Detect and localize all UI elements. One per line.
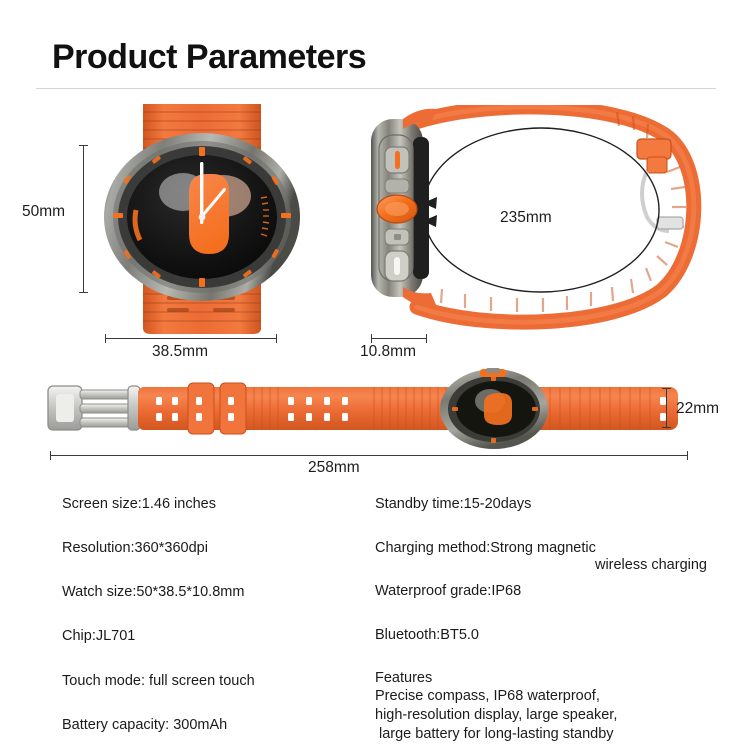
watch-flat-view: [44, 368, 694, 450]
front-height-label: 50mm: [22, 203, 65, 221]
spec-resolution: Resolution:360*360dpi: [62, 539, 382, 557]
product-parameters-page: Product Parameters: [0, 0, 750, 750]
band-width-label: 22mm: [676, 400, 719, 418]
flat-length-dimension-line: [50, 455, 688, 456]
front-height-dimension-line: [83, 145, 84, 293]
thickness-dimension-line: [371, 338, 427, 339]
spec-chip: Chip:JL701: [62, 627, 382, 645]
flat-watch-case: [440, 368, 548, 449]
spec-charging-method-cont: wireless charging: [375, 557, 735, 573]
spec-column-right: Standby time:15-20days Charging method:S…: [375, 495, 735, 744]
flat-length-label: 258mm: [308, 459, 360, 477]
spec-screen-size: Screen size:1.46 inches: [62, 495, 382, 513]
watch-front-view: [95, 100, 310, 335]
spec-watch-size: Watch size:50*38.5*10.8mm: [62, 583, 382, 601]
front-width-dimension-line: [105, 338, 277, 339]
spec-bluetooth: Bluetooth:BT5.0: [375, 626, 735, 644]
spec-touch-mode: Touch mode: full screen touch: [62, 672, 382, 690]
features-title: Features: [375, 669, 735, 688]
front-width-label: 38.5mm: [152, 343, 208, 361]
thickness-label: 10.8mm: [360, 343, 416, 361]
specifications-block: Screen size:1.46 inches Resolution:360*3…: [0, 495, 750, 700]
spec-battery-capacity: Battery capacity: 300mAh: [62, 716, 382, 734]
spec-waterproof-grade: Waterproof grade:IP68: [375, 582, 735, 600]
features-line-2: high-resolution display, large speaker,: [375, 706, 735, 725]
title-divider: [36, 88, 716, 89]
case-profile: [371, 119, 429, 297]
spec-column-left: Screen size:1.46 inches Resolution:360*3…: [62, 495, 382, 734]
page-title: Product Parameters: [52, 38, 366, 77]
spec-standby-time: Standby time:15-20days: [375, 495, 735, 513]
features-line-1: Precise compass, IP68 waterproof,: [375, 687, 735, 706]
circumference-label: 235mm: [500, 209, 552, 227]
buckle: [48, 386, 140, 430]
spec-charging-method: Charging method:Strong magnetic: [375, 539, 735, 557]
features-line-3: large battery for long-lasting standby: [375, 725, 735, 744]
band-width-dimension-line: [666, 388, 667, 428]
